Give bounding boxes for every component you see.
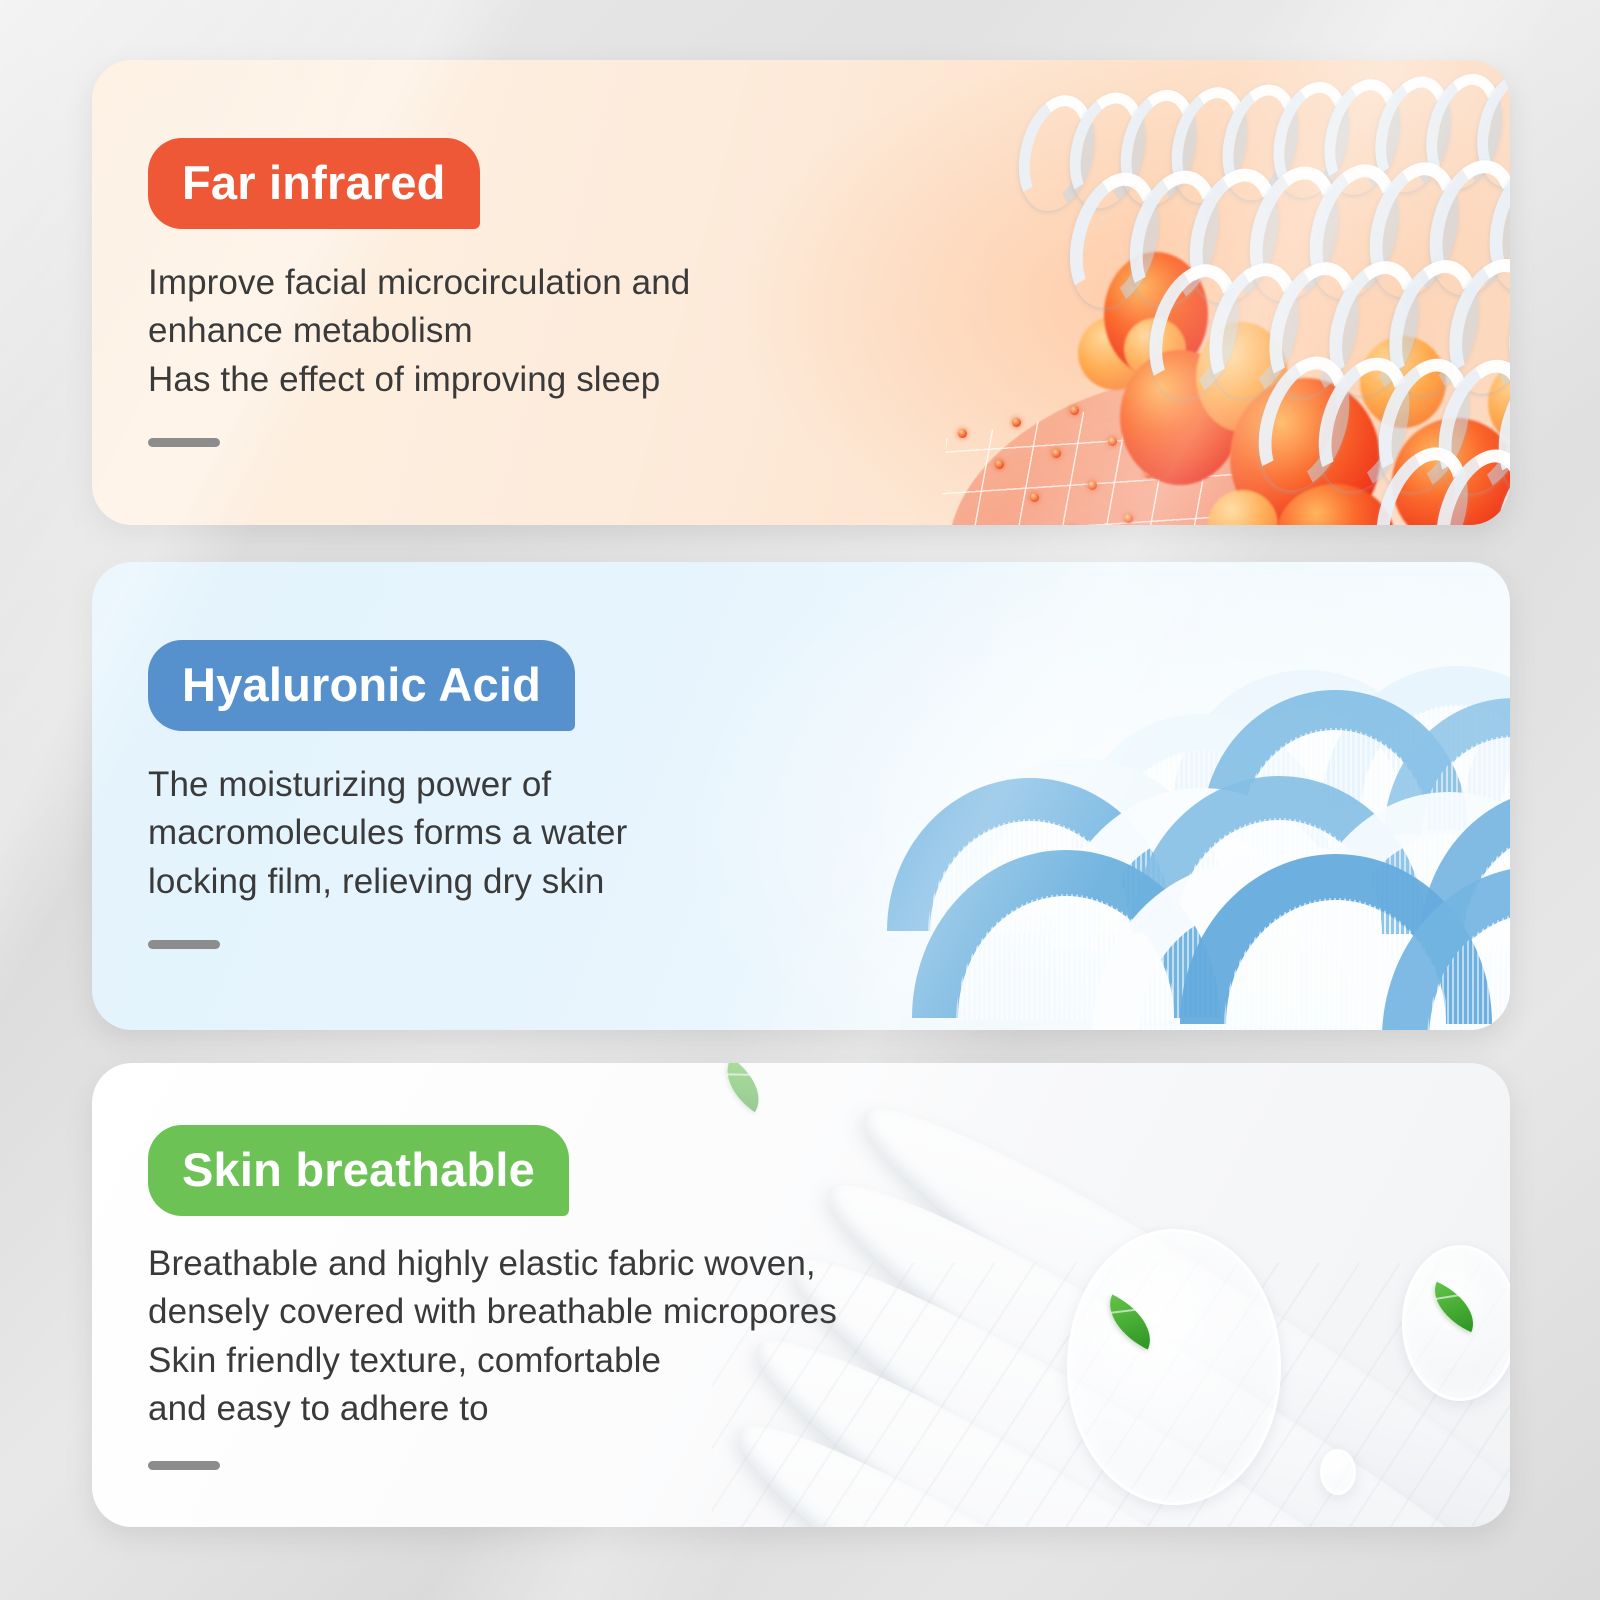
divider-dash <box>148 940 220 949</box>
mesh-node-dot <box>1052 449 1061 458</box>
badge-far-infrared[interactable]: Far infrared <box>148 138 480 229</box>
divider-dash <box>148 1461 220 1470</box>
divider-dash <box>148 438 220 447</box>
description-hyaluronic-acid: The moisturizing power of macromolecules… <box>148 761 1510 906</box>
card-content-skin-breathable: Skin breathable Breathable and highly el… <box>92 1063 1510 1470</box>
card-content-far-infrared: Far infrared Improve facial microcircula… <box>92 60 1510 447</box>
infographic-page: Far infrared Improve facial microcircula… <box>0 0 1600 1600</box>
coil-strand <box>1378 444 1510 525</box>
description-skin-breathable: Breathable and highly elastic fabric wov… <box>148 1240 1510 1433</box>
description-far-infrared: Improve facial microcirculation and enha… <box>148 259 1510 404</box>
mesh-node-dot <box>1030 493 1039 502</box>
feature-card-far-infrared: Far infrared Improve facial microcircula… <box>92 60 1510 525</box>
mesh-node-dot <box>1088 481 1097 490</box>
feature-card-hyaluronic-acid: Hyaluronic Acid The moisturizing power o… <box>92 562 1510 1030</box>
badge-hyaluronic-acid[interactable]: Hyaluronic Acid <box>148 640 575 731</box>
badge-skin-breathable[interactable]: Skin breathable <box>148 1125 569 1216</box>
mesh-node-dot <box>1124 514 1133 523</box>
feature-card-skin-breathable: Skin breathable Breathable and highly el… <box>92 1063 1510 1527</box>
mesh-node-dot <box>995 460 1004 469</box>
card-content-hyaluronic-acid: Hyaluronic Acid The moisturizing power o… <box>92 562 1510 949</box>
